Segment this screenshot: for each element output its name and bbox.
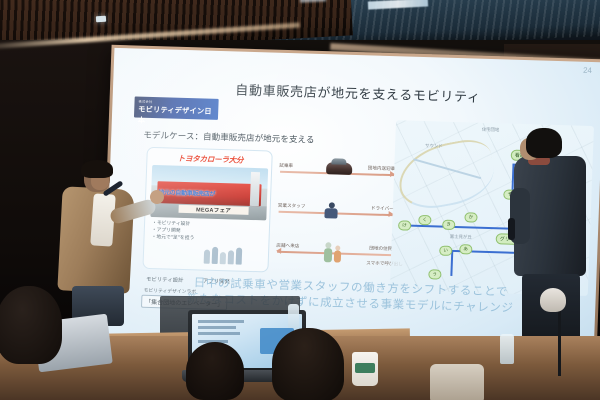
person-figure-icon (220, 252, 226, 264)
dealership-bullets: ・モビリティ設計 ・アプリ開発 ・地元で"足"を担う (151, 220, 195, 242)
flow-row: 店舗へ来店 団地の住民 スマホで呼び出し (275, 237, 394, 270)
flow-diagram: 試乗車 団地内送迎車 営業スタッフ ドライバー (274, 155, 396, 282)
map-area-label: 住宅団地 (482, 127, 500, 134)
flow-row: 営業スタッフ ドライバー (276, 197, 395, 230)
audience-head (186, 342, 244, 400)
flow-right-label: ドライバー (371, 206, 394, 213)
presentation-scene: 24 自動車販売店が地元を支えるモビリティ 株式会社 モビリティデザイン日本 モ… (0, 0, 600, 400)
slide-page-number: 24 (583, 66, 592, 75)
staff-icon (324, 202, 338, 218)
dealership-people-illustration (204, 242, 263, 266)
flow-left-label: 試乗車 (279, 163, 293, 169)
person-figure-icon (212, 247, 219, 264)
dealership-sign-tower (250, 172, 260, 206)
company-logo-main: モビリティデザイン日本 (138, 104, 215, 128)
presenter-left-hair (81, 160, 113, 178)
dealership-overlay-text: 地元の自動車販売店が (158, 187, 215, 198)
flow-left-label: 店舗へ来店 (276, 243, 299, 250)
audience-head (0, 286, 62, 364)
camera-tripod (558, 306, 561, 376)
coffee-cup (352, 352, 378, 386)
map-stop-node[interactable]: い (439, 246, 452, 256)
flow-right-label: 団地内送迎車 (368, 165, 396, 172)
dealership-card: トヨタカローラ大分 MEGAフェア 地元の自動車販売店が ・モビリティ設計 ・ア… (142, 147, 272, 273)
person-figure-icon (236, 248, 243, 265)
presenter-right (510, 128, 600, 358)
map-stop-node[interactable]: う (428, 269, 441, 279)
map-stop-node[interactable]: か (464, 212, 477, 222)
presenter-left (58, 160, 154, 320)
ceiling-spotlight-icon (96, 16, 106, 23)
map-stop-node[interactable]: き (442, 220, 455, 230)
flow-right-label: 団地の住民 (369, 245, 392, 252)
residents-icon (323, 242, 346, 263)
flow-row: 試乗車 団地内送迎車 (278, 157, 397, 190)
foreground-object (430, 364, 484, 400)
car-icon (326, 162, 352, 175)
microphone-icon (508, 218, 515, 240)
map-area-label: サウンド (425, 143, 443, 150)
audience-head (272, 328, 344, 400)
company-logo: 株式会社 モビリティデザイン日本 (134, 96, 219, 119)
dealership-photo: MEGAフェア 地元の自動車販売店が (150, 165, 268, 220)
map-stop-node[interactable]: あ (459, 244, 472, 254)
map-stop-node[interactable]: け (398, 220, 411, 230)
water-bottle (500, 334, 514, 364)
map-stop-node[interactable]: く (418, 215, 431, 225)
presenter-right-hair (526, 128, 562, 158)
camera-icon (540, 288, 566, 312)
flow-left-label: 営業スタッフ (278, 203, 306, 210)
water-bottle (288, 304, 299, 328)
person-figure-icon (228, 250, 235, 264)
person-figure-icon (204, 250, 211, 264)
model-case-label: モデルケース：自動車販売店が地元を支える (143, 129, 315, 146)
map-area-label: 富士見が丘 (450, 234, 472, 241)
